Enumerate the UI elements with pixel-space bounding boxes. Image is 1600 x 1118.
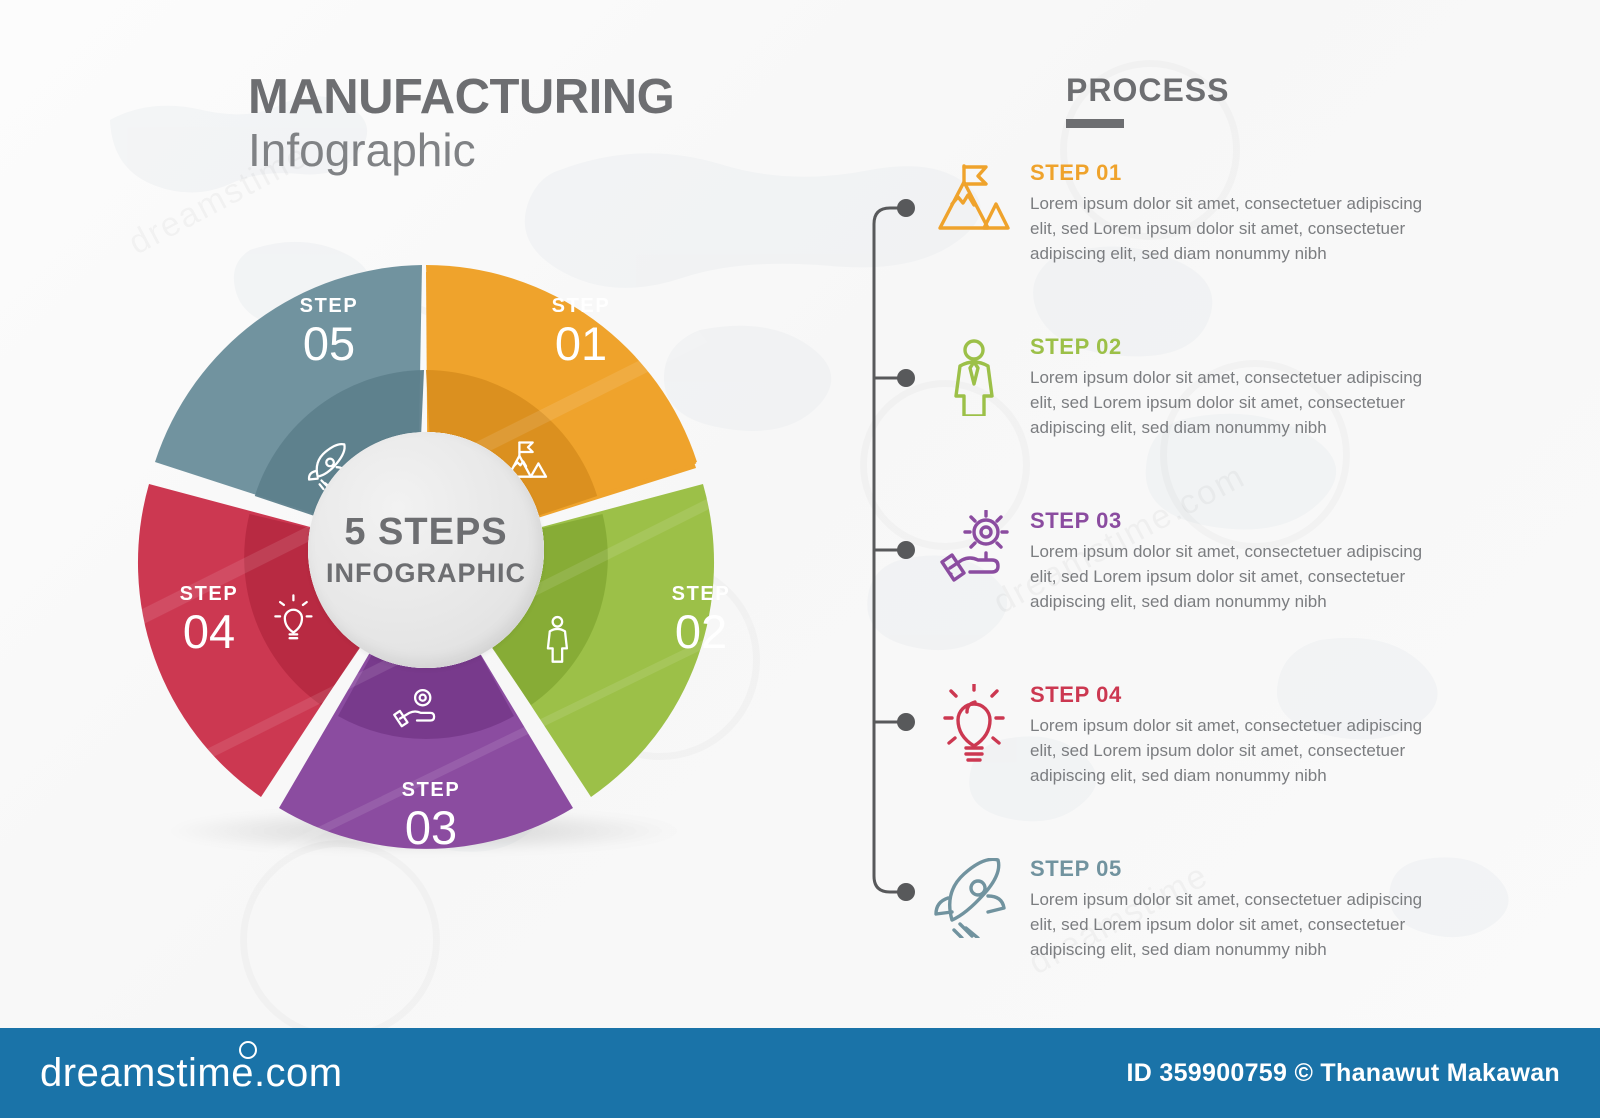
step-body: Lorem ipsum dolor sit amet, consectetuer… bbox=[1030, 365, 1450, 440]
image-credit: ID 359900759 © Thanawut Makawan bbox=[1127, 1059, 1560, 1088]
title-sub: Infographic bbox=[248, 125, 674, 176]
hub-title: 5 STEPS bbox=[344, 511, 507, 554]
timeline-dot bbox=[897, 199, 915, 901]
step-body: Lorem ipsum dolor sit amet, consectetuer… bbox=[1030, 713, 1450, 788]
step-text-block: STEP 05 Lorem ipsum dolor sit amet, cons… bbox=[1020, 846, 1450, 962]
step-text-block: STEP 02 Lorem ipsum dolor sit amet, cons… bbox=[1020, 324, 1450, 440]
title-main: MANUFACTURING bbox=[248, 72, 674, 123]
process-step-02[interactable]: STEP 02 Lorem ipsum dolor sit amet, cons… bbox=[928, 324, 1548, 440]
process-underline bbox=[1066, 119, 1124, 128]
step-text-block: STEP 01 Lorem ipsum dolor sit amet, cons… bbox=[1020, 150, 1450, 266]
step-icon-lightbulb bbox=[928, 678, 1020, 770]
donut-chart: STEP 01 STEP 02 STEP 03 STEP 04 STEP 05 … bbox=[76, 200, 776, 900]
donut-center-hub: 5 STEPS INFOGRAPHIC bbox=[308, 432, 544, 668]
step-body: Lorem ipsum dolor sit amet, consectetuer… bbox=[1030, 539, 1450, 614]
spiral-mark-icon bbox=[239, 1041, 257, 1059]
step-icon-mountain-flag bbox=[928, 156, 1020, 248]
process-step-03[interactable]: STEP 03 Lorem ipsum dolor sit amet, cons… bbox=[928, 498, 1548, 614]
page-title: MANUFACTURING Infographic bbox=[248, 72, 674, 176]
step-label: STEP 03 bbox=[1030, 508, 1450, 534]
process-title: PROCESS bbox=[1066, 72, 1229, 109]
process-step-04[interactable]: STEP 04 Lorem ipsum dolor sit amet, cons… bbox=[928, 672, 1548, 788]
step-icon-hand-gear bbox=[928, 504, 1020, 596]
step-text-block: STEP 03 Lorem ipsum dolor sit amet, cons… bbox=[1020, 498, 1450, 614]
step-label: STEP 01 bbox=[1030, 160, 1450, 186]
footer-bar: dreamstime.com ID 359900759 © Thanawut M… bbox=[0, 1028, 1600, 1118]
dreamstime-logo[interactable]: dreamstime.com bbox=[40, 1051, 343, 1096]
step-label: STEP 05 bbox=[1030, 856, 1450, 882]
infographic-canvas: dreamstime dreamstime.com dreamstime MAN… bbox=[0, 0, 1600, 1118]
step-label: STEP 04 bbox=[1030, 682, 1450, 708]
step-text-block: STEP 04 Lorem ipsum dolor sit amet, cons… bbox=[1020, 672, 1450, 788]
step-body: Lorem ipsum dolor sit amet, consectetuer… bbox=[1030, 191, 1450, 266]
process-step-05[interactable]: STEP 05 Lorem ipsum dolor sit amet, cons… bbox=[928, 846, 1548, 962]
step-body: Lorem ipsum dolor sit amet, consectetuer… bbox=[1030, 887, 1450, 962]
step-label: STEP 02 bbox=[1030, 334, 1450, 360]
process-heading: PROCESS bbox=[1066, 72, 1229, 128]
hub-subtitle: INFOGRAPHIC bbox=[326, 558, 526, 589]
step-icon-rocket bbox=[928, 852, 1020, 944]
dreamstime-logo-text: dreamstime.com bbox=[40, 1051, 343, 1095]
process-step-01[interactable]: STEP 01 Lorem ipsum dolor sit amet, cons… bbox=[928, 150, 1548, 266]
step-icon-person bbox=[928, 330, 1020, 422]
